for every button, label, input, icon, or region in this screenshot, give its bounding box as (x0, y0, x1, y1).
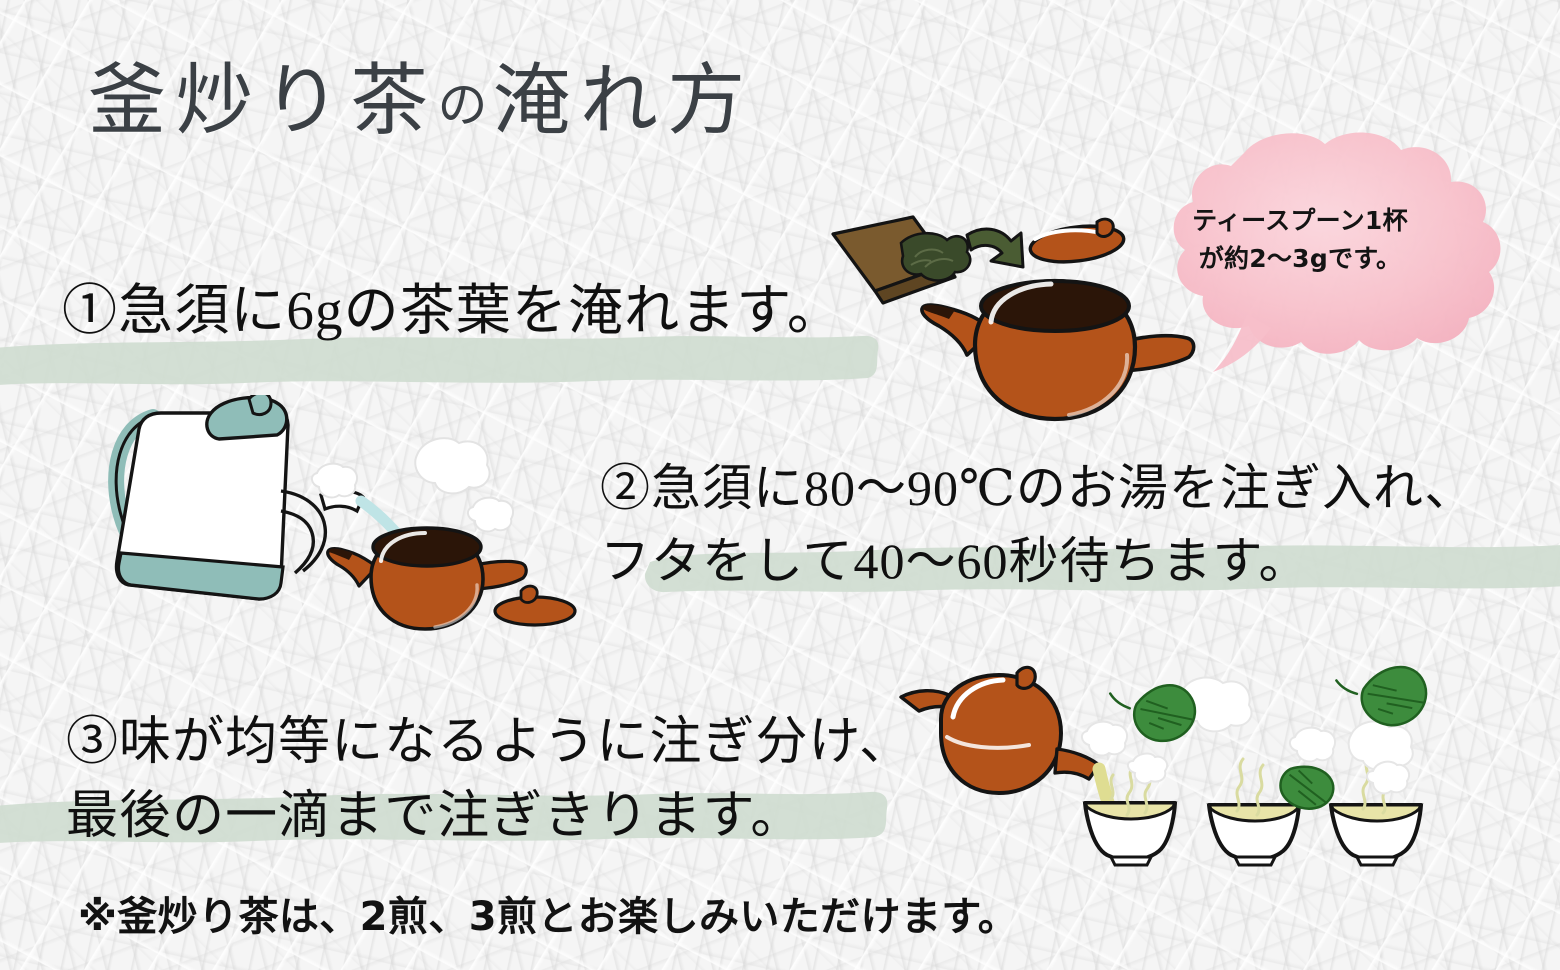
step-3-text: ③味が均等になるように注ぎ分け、 最後の一滴まで注ぎきります。 (66, 706, 912, 854)
step-3-line2: 最後の一滴まで注ぎきります。 (66, 780, 912, 854)
page-title-tail: 淹れ方 (492, 57, 754, 144)
step2-illustration (95, 395, 595, 655)
teapot-lid-icon (495, 586, 575, 625)
poster-root: 釜炒り茶の淹れ方 (0, 0, 1560, 970)
steam-puff-icon (312, 438, 513, 531)
tea-leaf-icon (1336, 659, 1435, 735)
pouring-teapot-icon (901, 667, 1115, 821)
tea-cup-icon (1331, 805, 1421, 865)
step-2-text: ②急須に80〜90℃のお湯を注ぎ入れ、 フタをして40〜60秒待ちます。 (600, 452, 1475, 597)
speech-bubble: ティースプーン1杯 が約2〜3gです。 (1135, 128, 1555, 378)
page-title: 釜炒り茶の淹れ方 (88, 62, 755, 140)
step3-illustration (875, 655, 1435, 875)
speech-bubble-text: ティースプーン1杯 が約2〜3gです。 (1135, 202, 1465, 277)
step-2-line1: ②急須に80〜90℃のお湯を注ぎ入れ、 (600, 452, 1475, 525)
teapot-lid-icon (1028, 219, 1125, 266)
speech-bubble-line2: が約2〜3gです。 (1135, 240, 1465, 278)
green-arrow-icon (967, 229, 1023, 267)
step-3-line1: ③味が均等になるように注ぎ分け、 (66, 706, 912, 780)
speech-bubble-line1: ティースプーン1杯 (1135, 202, 1465, 240)
step-2-line2: フタをして40〜60秒待ちます。 (600, 525, 1475, 598)
page-title-particle: の (437, 77, 492, 133)
tea-cup-icon (1085, 803, 1175, 865)
footnote-text: ※釜炒り茶は、2煎、3煎とお楽しみいただけます。 (78, 884, 1018, 942)
tea-cup-icon (1209, 805, 1299, 865)
step-1-text: ①急須に6gの茶葉を淹れます。 (62, 283, 843, 338)
page-title-main: 釜炒り茶 (88, 57, 437, 144)
tea-scoop-icon (833, 217, 970, 303)
